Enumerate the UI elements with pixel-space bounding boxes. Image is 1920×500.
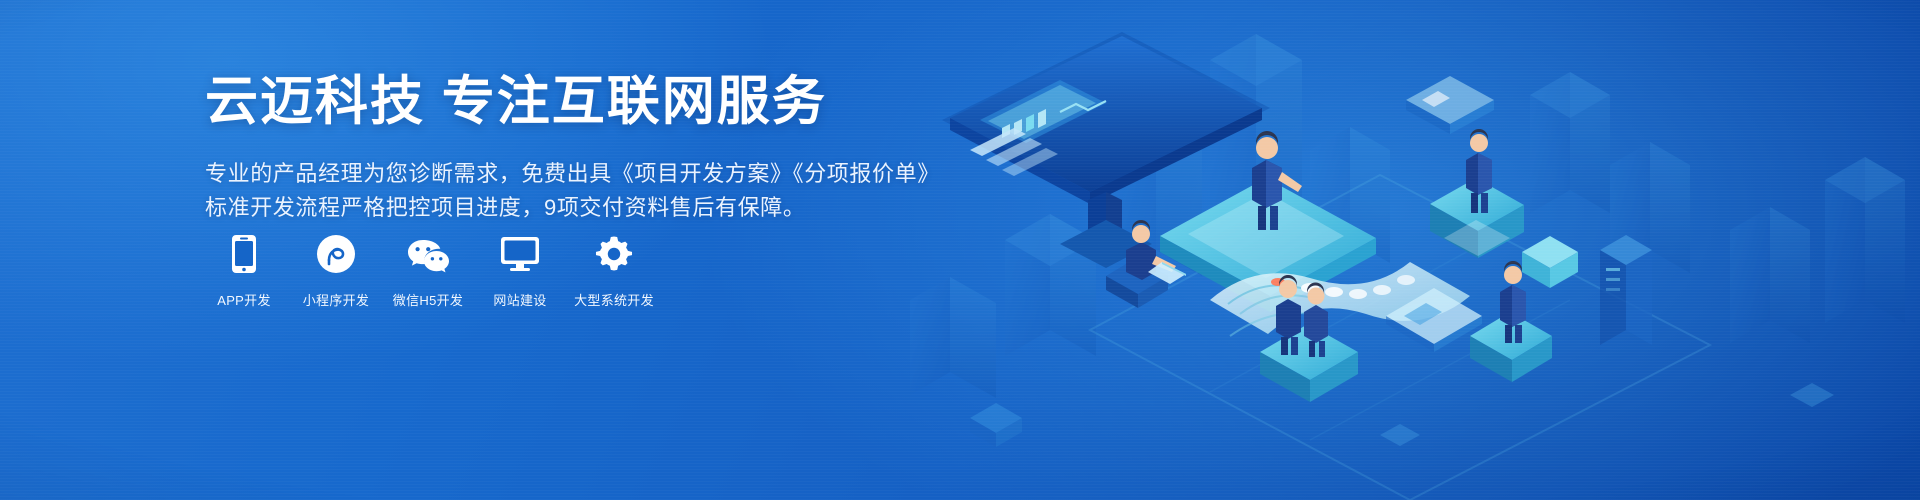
service-label-large-system: 大型系统开发 (574, 290, 654, 309)
subtitle-line-1: 专业的产品经理为您诊断需求，免费出具《项目开发方案》《分项报价单》 (205, 157, 1105, 191)
ground-grid (1090, 175, 1710, 500)
service-item-website[interactable]: 网站建设 (484, 232, 556, 309)
page-title: 云迈科技 专注互联网服务 (205, 72, 1105, 131)
seated-figure-laptop (1106, 220, 1186, 308)
standing-figure-main (1252, 131, 1302, 230)
smartphone-icon (231, 232, 257, 276)
lower-left-pedestal (1260, 324, 1358, 402)
service-item-app[interactable]: APP开发 (208, 232, 280, 309)
wechat-icon (406, 232, 450, 276)
sheet-indicators (1271, 275, 1415, 299)
server-tower-right (1600, 235, 1652, 345)
service-label-app: APP开发 (217, 290, 271, 309)
mini-program-icon (316, 232, 356, 276)
gear-icon (594, 232, 634, 276)
service-item-wechat-h5[interactable]: 微信H5开发 (392, 232, 464, 309)
cyan-box-right (1522, 236, 1578, 288)
service-item-large-system[interactable]: 大型系统开发 (578, 232, 650, 309)
hero-copy: 云迈科技 专注互联网服务 专业的产品经理为您诊断需求，免费出具《项目开发方案》《… (205, 72, 1105, 225)
monitor-icon (500, 232, 540, 276)
center-platform (1160, 178, 1376, 312)
right-cube-platform (1430, 178, 1524, 258)
floating-hologram-panel (1386, 288, 1482, 352)
floating-card-chart (1406, 76, 1494, 134)
standing-figure-right (1466, 129, 1492, 213)
floating-diamonds (970, 220, 1834, 447)
service-label-wechat-h5: 微信H5开发 (393, 290, 463, 309)
subtitle-line-2: 标准开发流程严格把控项目进度，9项交付资料售后有保障。 (205, 191, 1105, 225)
standing-figure-lower-right (1500, 261, 1526, 343)
service-label-website: 网站建设 (493, 290, 546, 309)
service-item-miniprogram[interactable]: 小程序开发 (300, 232, 372, 309)
service-label-miniprogram: 小程序开发 (303, 290, 370, 309)
data-scroll-sheet (1210, 262, 1470, 336)
service-list: APP开发 小程序开发 (200, 232, 650, 309)
hero-banner: 云迈科技 专注互联网服务 专业的产品经理为您诊断需求，免费出具《项目开发方案》《… (0, 0, 1920, 500)
hero-subtitle: 专业的产品经理为您诊断需求，免费出具《项目开发方案》《分项报价单》 标准开发流程… (205, 157, 1105, 225)
figure-pair-lower-left (1276, 275, 1328, 357)
lower-right-pedestal (1470, 312, 1552, 382)
